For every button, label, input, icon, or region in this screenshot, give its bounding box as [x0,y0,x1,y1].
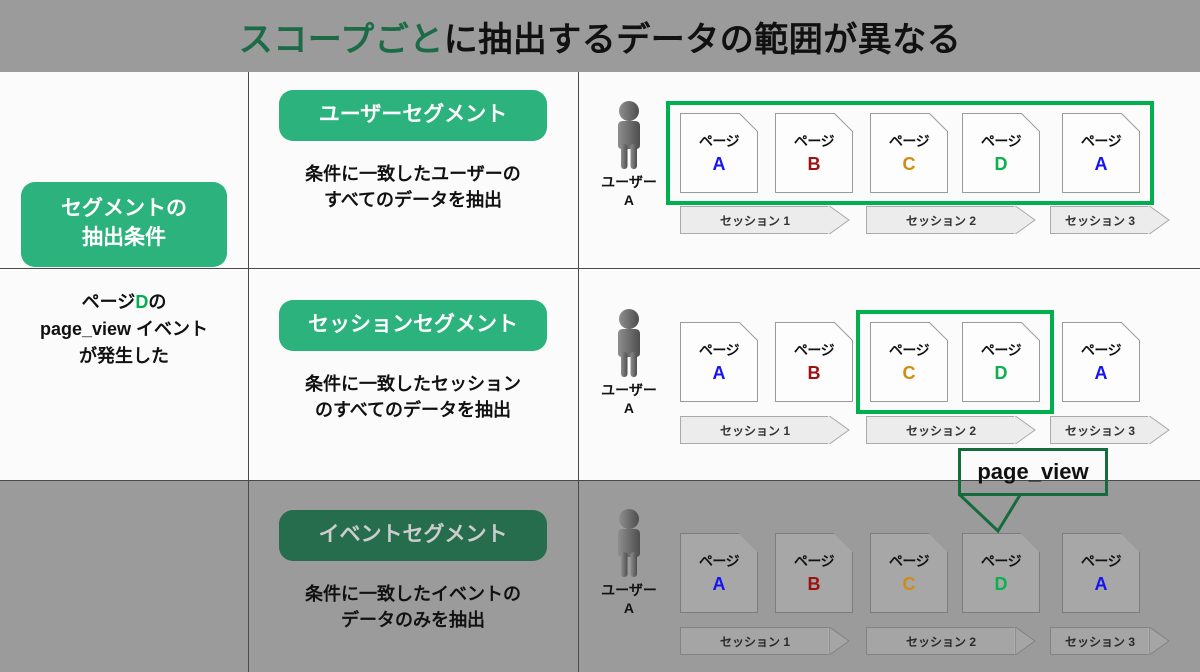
user-label-line2: A [601,192,657,210]
condition-text-accent: D [135,292,148,312]
page-fold-icon [929,322,948,341]
user-label: ユーザー A [601,382,657,417]
session-arrow: セッション 3 [1050,206,1150,234]
session-arrow: セッション 2 [866,416,1016,444]
session-arrow-label: セッション 2 [906,422,976,439]
condition-badge-line2: 抽出条件 [29,224,219,252]
page-card: ページ C [870,533,948,613]
page-card-title: ページ [794,131,834,151]
segment-condition-cell: セグメントの 抽出条件 ページDの page_view イベント が発生した [0,72,248,480]
segment-description-line1: 条件に一致したイベントの [305,581,521,607]
page-card-letter: A [713,154,726,175]
page-card-letter: A [1095,574,1108,595]
page-fold-icon [1121,113,1140,132]
page-view-callout: page_view [958,448,1108,496]
condition-text-pre: ページ [82,292,136,312]
session-arrow-head [1148,627,1170,655]
session-arrow-head-wrap [1014,627,1036,655]
segment-label-cell-2: セッションセグメント 条件に一致したセッション のすべてのデータを抽出 [248,300,578,423]
session-arrow: セッション 2 [866,627,1016,655]
user-label-line1: ユーザー [601,582,657,600]
user-label: ユーザー A [601,582,657,617]
page-card-title: ページ [794,551,834,571]
session-arrow-head-wrap [1014,206,1036,234]
page-card: ページ B [775,533,853,613]
session-arrow: セッション 1 [680,416,830,444]
session-arrow-label: セッション 1 [720,422,790,439]
session-arrow-head-wrap [1148,206,1170,234]
page-card: ページ A [1062,113,1140,193]
condition-badge: セグメントの 抽出条件 [21,182,227,267]
page-card: ページ D [962,113,1040,193]
page-card: ページ A [1062,322,1140,402]
segment-badge: セッションセグメント [279,300,547,351]
person-icon [607,508,651,578]
page-card-title: ページ [1081,131,1121,151]
segment-description: 条件に一致したユーザーの すべてのデータを抽出 [305,161,521,213]
page-card-title: ページ [981,131,1021,151]
condition-badge-line1: セグメントの [29,195,219,223]
session-arrow-head [828,627,850,655]
page-fold-icon [1121,322,1140,341]
page-card-title: ページ [889,131,929,151]
page-card: ページ C [870,322,948,402]
segment-description: 条件に一致したセッション のすべてのデータを抽出 [305,371,521,423]
page-card-title: ページ [889,340,929,360]
page-card: ページ D [962,533,1040,613]
page-card-letter: D [995,363,1008,384]
page-card-letter: D [995,154,1008,175]
condition-text: ページDの page_view イベント が発生した [40,289,208,370]
page-card-letter: B [808,574,821,595]
session-arrow-head-wrap [1014,416,1036,444]
page-card: ページ C [870,113,948,193]
page-card-letter: C [903,363,916,384]
session-arrow: セッション 3 [1050,627,1150,655]
session-arrow-label: セッション 3 [1065,422,1135,439]
page-fold-icon [1021,533,1040,552]
page-fold-icon [929,533,948,552]
condition-text-line2: page_view イベント [40,316,208,343]
page-fold-icon [739,322,758,341]
session-arrow: セッション 1 [680,206,830,234]
condition-text-line1: ページDの [40,289,208,316]
page-card-letter: C [903,154,916,175]
page-card-title: ページ [889,551,929,571]
page-view-callout-label: page_view [977,459,1088,485]
page-card-letter: A [1095,363,1108,384]
session-arrow-head [1014,416,1036,444]
user-figure-2: ユーザー A [592,308,666,417]
segment-description-line2: データのみを抽出 [305,607,521,633]
page-title: スコープごとに抽出するデータの範囲が異なる [239,12,961,61]
page-fold-icon [834,113,853,132]
person-icon [607,100,651,170]
session-arrow-label: セッション 2 [906,212,976,229]
user-label-line2: A [601,600,657,618]
segment-description-line2: すべてのデータを抽出 [305,187,521,213]
session-arrow-head [828,416,850,444]
session-arrow: セッション 1 [680,627,830,655]
grid-divider-2 [578,72,579,672]
callout-tail-icon [958,493,1028,533]
segment-badge: イベントセグメント [279,510,547,561]
session-arrow-head-wrap [1148,627,1170,655]
session-arrow-label: セッション 1 [720,633,790,650]
condition-text-post: の [148,292,166,312]
page-fold-icon [1121,533,1140,552]
page-card: ページ B [775,322,853,402]
segment-description-line2: のすべてのデータを抽出 [305,397,521,423]
user-figure-3: ユーザー A [592,508,666,617]
page-card-title: ページ [981,551,1021,571]
page-fold-icon [834,533,853,552]
condition-text-line3: が発生した [40,343,208,370]
session-arrow-head [1148,206,1170,234]
session-arrow-head [1014,627,1036,655]
page-card-letter: A [1095,154,1108,175]
page-card-letter: D [995,574,1008,595]
page-card: ページ B [775,113,853,193]
user-label: ユーザー A [601,174,657,209]
session-arrow-head-wrap [828,206,850,234]
page-card-title: ページ [981,340,1021,360]
session-arrow-head [828,206,850,234]
page-fold-icon [739,533,758,552]
page-card: ページ A [680,322,758,402]
page-card-letter: A [713,574,726,595]
user-label-line1: ユーザー [601,382,657,400]
user-figure-1: ユーザー A [592,100,666,209]
page-title-rest: に抽出するデータの範囲が異なる [444,21,962,59]
page-card: ページ A [680,113,758,193]
session-arrow: セッション 2 [866,206,1016,234]
person-icon [607,308,651,378]
page-fold-icon [1021,322,1040,341]
page-card-title: ページ [1081,551,1121,571]
page-card-title: ページ [699,340,739,360]
page-card: ページ D [962,322,1040,402]
segment-description-line1: 条件に一致したユーザーの [305,161,521,187]
diagram-root: スコープごとに抽出するデータの範囲が異なる セグメントの 抽出条件 ページDの … [0,0,1200,672]
segment-description: 条件に一致したイベントの データのみを抽出 [305,581,521,633]
page-card: ページ A [1062,533,1140,613]
session-arrow-label: セッション 1 [720,212,790,229]
session-arrow-head-wrap [828,627,850,655]
page-card-title: ページ [1081,340,1121,360]
session-arrow-head-wrap [1148,416,1170,444]
user-label-line2: A [601,400,657,418]
page-card-title: ページ [699,551,739,571]
callout-tail [958,493,1028,533]
page-card-title: ページ [699,131,739,151]
page-card-letter: B [808,154,821,175]
page-fold-icon [739,113,758,132]
session-arrow-label: セッション 2 [906,633,976,650]
session-arrow-head-wrap [828,416,850,444]
page-fold-icon [929,113,948,132]
page-card-title: ページ [794,340,834,360]
session-arrow-head [1014,206,1036,234]
segment-label-cell-3: イベントセグメント 条件に一致したイベントの データのみを抽出 [248,510,578,633]
page-title-accent: スコープごと [239,21,444,59]
session-arrow: セッション 3 [1050,416,1150,444]
segment-badge: ユーザーセグメント [279,90,547,141]
segment-description-line1: 条件に一致したセッション [305,371,521,397]
user-label-line1: ユーザー [601,174,657,192]
page-fold-icon [1021,113,1040,132]
page-card: ページ A [680,533,758,613]
header-band: スコープごとに抽出するデータの範囲が異なる [0,0,1200,72]
segment-label-cell-1: ユーザーセグメント 条件に一致したユーザーの すべてのデータを抽出 [248,90,578,213]
session-arrow-label: セッション 3 [1065,633,1135,650]
page-card-letter: C [903,574,916,595]
session-arrow-label: セッション 3 [1065,212,1135,229]
page-card-letter: B [808,363,821,384]
page-fold-icon [834,322,853,341]
page-card-letter: A [713,363,726,384]
session-arrow-head [1148,416,1170,444]
